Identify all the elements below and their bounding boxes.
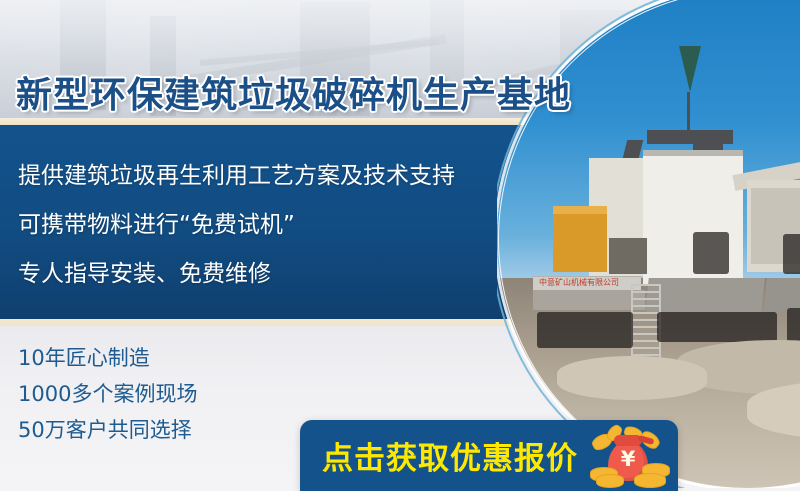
get-quote-button[interactable]: 点击获取优惠报价 ¥ [300,420,678,491]
money-bag-icon: ¥ [590,427,668,485]
feature-item-1: 10年匠心制造 [18,340,197,376]
benefit-line-3: 专人指导安装、免费维修 [18,250,455,299]
promo-banner: 中意矿山机械有限公司 新型环保建筑垃圾破碎机生产基地 提供建筑垃圾再生利用工艺方… [0,0,800,491]
get-quote-button-label: 点击获取优惠报价 [322,433,578,478]
benefit-lines: 提供建筑垃圾再生利用工艺方案及技术支持 可携带物料进行“免费试机” 专人指导安装… [18,152,455,299]
feature-item-2: 1000多个案例现场 [18,376,197,412]
benefit-line-1: 提供建筑垃圾再生利用工艺方案及技术支持 [18,152,455,201]
benefit-line-2: 可携带物料进行“免费试机” [18,201,455,250]
feature-list: 10年匠心制造 1000多个案例现场 50万客户共同选择 [18,340,197,448]
page-title: 新型环保建筑垃圾破碎机生产基地 [16,66,571,118]
feature-item-3: 50万客户共同选择 [18,412,197,448]
